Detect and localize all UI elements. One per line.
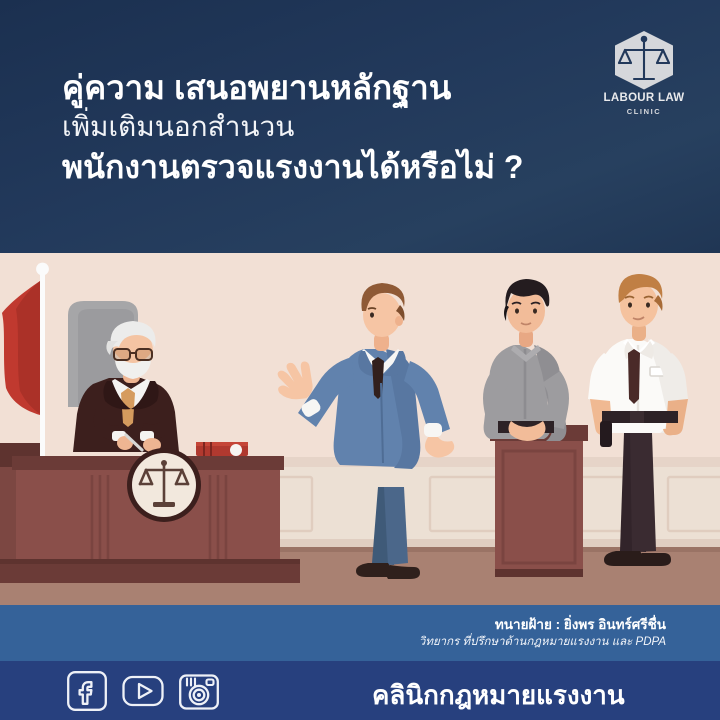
credit-band: ทนายฝ้าย : ยิ่งพร อินทร์ศรีชื่น วิทยากร … xyxy=(0,605,720,661)
instagram-camera-icon[interactable] xyxy=(178,670,220,712)
header-banner: คู่ความ เสนอพยานหลักฐาน เพิ่มเติมนอกสำนว… xyxy=(0,0,720,253)
courtroom-scene-graphic xyxy=(0,253,720,605)
footer-bar: คลินิกกฎหมายแรงงาน xyxy=(0,661,720,720)
speaker-name: ทนายฝ้าย : ยิ่งพร อินทร์ศรีชื่น xyxy=(495,613,666,635)
scales-of-justice-hexagon-icon xyxy=(600,30,688,92)
headline-line-3: พนักงานตรวจแรงงานได้หรือไม่ ? xyxy=(62,146,622,188)
headline-line-1: คู่ความ เสนอพยานหลักฐาน xyxy=(62,68,622,108)
headline-line-2: เพิ่มเติมนอกสำนวน xyxy=(62,108,622,146)
logo-name-top: LABOUR LAW xyxy=(600,92,688,104)
social-links xyxy=(66,670,220,712)
footer-brand-name: คลินิกกฎหมายแรงงาน xyxy=(372,675,625,716)
facebook-icon[interactable] xyxy=(66,670,108,712)
speaker-title: วิทยากร ที่ปรึกษาด้านกฎหมายแรงงาน และ PD… xyxy=(419,633,666,651)
youtube-play-icon[interactable] xyxy=(122,670,164,712)
poster: คู่ความ เสนอพยานหลักฐาน เพิ่มเติมนอกสำนว… xyxy=(0,0,720,720)
labour-law-clinic-logo: LABOUR LAW CLINIC xyxy=(600,30,688,132)
courtroom-illustration xyxy=(0,253,720,605)
headline-group: คู่ความ เสนอพยานหลักฐาน เพิ่มเติมนอกสำนว… xyxy=(62,68,622,188)
logo-name-bottom: CLINIC xyxy=(600,107,688,116)
